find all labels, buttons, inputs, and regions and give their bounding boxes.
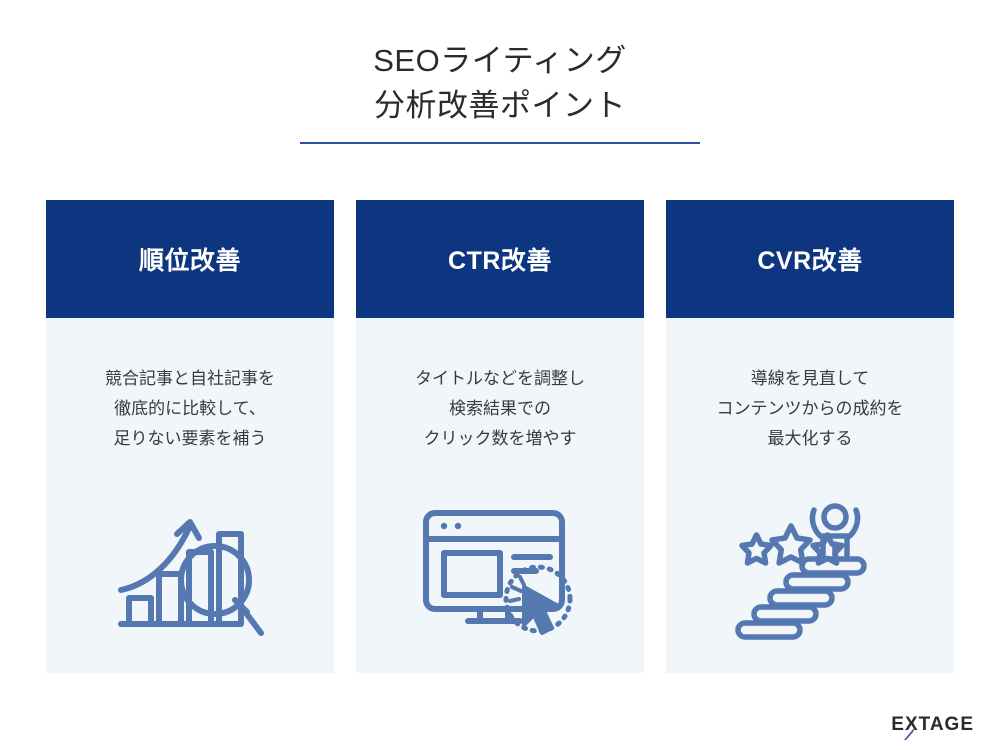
card-heading: CTR改善 xyxy=(448,241,552,277)
card-cvr-improvement[interactable]: CVR改善 導線を見直して コンテンツからの成約を 最大化する xyxy=(666,200,954,673)
card-rank-improvement[interactable]: 順位改善 競合記事と自社記事を 徹底的に比較して、 足りない要素を補う xyxy=(46,200,334,673)
brand-logo: EXTAGE xyxy=(891,714,974,736)
page-title-line-1: SEOライティング xyxy=(0,38,1000,83)
card-heading: 順位改善 xyxy=(139,241,241,277)
card-description: 競合記事と自社記事を 徹底的に比較して、 足りない要素を補う xyxy=(105,364,275,454)
monitor-click-cursor-icon xyxy=(415,497,585,647)
card-description: タイトルなどを調整し 検索結果での クリック数を増やす xyxy=(415,364,585,454)
title-divider-rule xyxy=(300,142,700,144)
card-header: 順位改善 xyxy=(46,200,334,318)
stairs-success-stars-icon xyxy=(725,497,895,647)
card-heading: CVR改善 xyxy=(757,241,862,277)
card-ctr-improvement[interactable]: CTR改善 タイトルなどを調整し 検索結果での クリック数を増やす xyxy=(356,200,644,673)
logo-slash-icon xyxy=(902,726,917,741)
card-body: 競合記事と自社記事を 徹底的に比較して、 足りない要素を補う xyxy=(46,318,334,673)
cards-row: 順位改善 競合記事と自社記事を 徹底的に比較して、 足りない要素を補う xyxy=(46,200,954,673)
page-title-line-2: 分析改善ポイント xyxy=(0,83,1000,128)
card-description: 導線を見直して コンテンツからの成約を 最大化する xyxy=(717,364,904,454)
card-body: タイトルなどを調整し 検索結果での クリック数を増やす xyxy=(356,318,644,673)
card-header: CVR改善 xyxy=(666,200,954,318)
card-body: 導線を見直して コンテンツからの成約を 最大化する xyxy=(666,318,954,673)
bar-chart-growth-magnifier-icon xyxy=(105,497,275,647)
page-title: SEOライティング 分析改善ポイント xyxy=(0,38,1000,128)
card-header: CTR改善 xyxy=(356,200,644,318)
